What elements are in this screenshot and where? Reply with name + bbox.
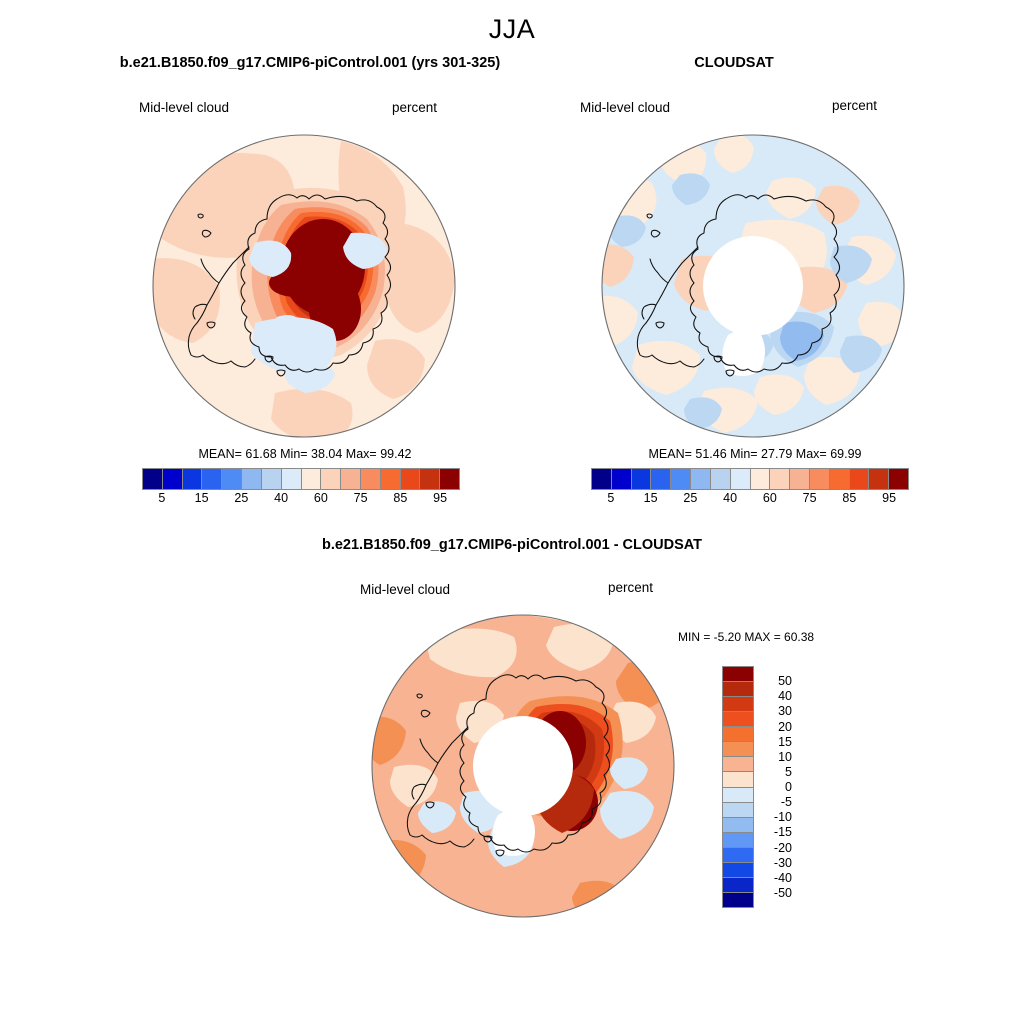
difference-polar-data-gap — [473, 716, 573, 816]
colorbar-segment — [592, 469, 612, 489]
colorbar-segment — [420, 469, 440, 489]
colorbar-segment — [262, 469, 282, 489]
colorbar-segment — [850, 469, 870, 489]
colorbar-tick-label: 15 — [762, 735, 792, 749]
stats-model: MEAN= 61.68 Min= 38.04 Max= 99.42 — [140, 447, 470, 461]
colorbar-segment — [723, 742, 753, 757]
units-label-difference: percent — [608, 580, 653, 595]
colorbar-tick-label: 25 — [234, 491, 248, 505]
colorbar-segment — [632, 469, 652, 489]
colorbar-segment — [723, 848, 753, 863]
colorbar-tick-label: 75 — [803, 491, 817, 505]
colorbar-segment — [723, 757, 753, 772]
colorbar-segment — [671, 469, 691, 489]
colorbar-segment — [869, 469, 889, 489]
colorbar-tick-label: 40 — [762, 689, 792, 703]
polar-map-obs-svg — [594, 127, 912, 445]
colorbar-obs-strip[interactable] — [591, 468, 909, 490]
colorbar-obs[interactable]: 515254060758595 — [591, 468, 909, 508]
season-title: JJA — [0, 14, 1024, 45]
field-label-model: Mid-level cloud — [139, 100, 229, 115]
colorbar-tick-label: -50 — [762, 886, 792, 900]
colorbar-difference[interactable]: 50403020151050-5-10-15-20-30-40-50 — [722, 666, 802, 908]
colorbar-segment — [723, 878, 753, 893]
colorbar-tick-label: -40 — [762, 871, 792, 885]
panel-title-difference: b.e21.B1850.f09_g17.CMIP6-piControl.001 … — [0, 537, 1024, 553]
colorbar-segment — [440, 469, 459, 489]
polar-map-difference-svg — [364, 607, 682, 925]
colorbar-segment — [612, 469, 632, 489]
colorbar-segment — [723, 803, 753, 818]
colorbar-segment — [321, 469, 341, 489]
colorbar-segment — [361, 469, 381, 489]
field-label-obs: Mid-level cloud — [580, 100, 670, 115]
colorbar-tick-label: 15 — [644, 491, 658, 505]
colorbar-tick-label: 0 — [762, 780, 792, 794]
colorbar-tick-label: -5 — [762, 795, 792, 809]
colorbar-model-strip[interactable] — [142, 468, 460, 490]
colorbar-segment — [381, 469, 401, 489]
colorbar-tick-label: 5 — [762, 765, 792, 779]
colorbar-model-ticks: 515254060758595 — [142, 490, 460, 508]
colorbar-tick-label: 15 — [195, 491, 209, 505]
colorbar-tick-label: 40 — [274, 491, 288, 505]
colorbar-segment — [723, 833, 753, 848]
colorbar-tick-label: 25 — [683, 491, 697, 505]
polar-map-model — [145, 127, 463, 445]
colorbar-segment — [691, 469, 711, 489]
colorbar-tick-label: 75 — [354, 491, 368, 505]
colorbar-tick-label: 5 — [607, 491, 614, 505]
colorbar-segment — [810, 469, 830, 489]
colorbar-tick-label: 85 — [393, 491, 407, 505]
colorbar-segment — [770, 469, 790, 489]
stats-obs: MEAN= 51.46 Min= 27.79 Max= 69.99 — [590, 447, 920, 461]
colorbar-tick-label: 40 — [723, 491, 737, 505]
colorbar-segment — [651, 469, 671, 489]
colorbar-segment — [723, 727, 753, 742]
polar-map-obs — [594, 127, 912, 445]
colorbar-segment — [202, 469, 222, 489]
model-filled-contours — [145, 127, 463, 445]
field-label-difference: Mid-level cloud — [360, 582, 450, 597]
colorbar-tick-label: 60 — [763, 491, 777, 505]
panel-title-obs: CLOUDSAT — [444, 55, 1024, 71]
colorbar-tick-label: 5 — [158, 491, 165, 505]
obs-filled-contours — [594, 127, 912, 445]
units-label-obs: percent — [832, 98, 877, 113]
difference-filled-contours — [364, 607, 682, 925]
colorbar-tick-label: 60 — [314, 491, 328, 505]
colorbar-obs-ticks: 515254060758595 — [591, 490, 909, 508]
colorbar-segment — [723, 712, 753, 727]
colorbar-segment — [282, 469, 302, 489]
colorbar-tick-label: 85 — [842, 491, 856, 505]
colorbar-segment — [723, 772, 753, 787]
colorbar-tick-label: -20 — [762, 841, 792, 855]
polar-map-model-svg — [145, 127, 463, 445]
colorbar-tick-label: 20 — [762, 720, 792, 734]
colorbar-segment — [711, 469, 731, 489]
colorbar-difference-labels: 50403020151050-5-10-15-20-30-40-50 — [762, 666, 802, 908]
colorbar-segment — [751, 469, 771, 489]
colorbar-segment — [302, 469, 322, 489]
colorbar-segment — [723, 697, 753, 712]
colorbar-segment — [723, 818, 753, 833]
colorbar-tick-label: -30 — [762, 856, 792, 870]
colorbar-segment — [723, 788, 753, 803]
colorbar-tick-label: 30 — [762, 704, 792, 718]
colorbar-segment — [143, 469, 163, 489]
colorbar-segment — [723, 893, 753, 907]
colorbar-segment — [401, 469, 421, 489]
colorbar-segment — [341, 469, 361, 489]
colorbar-segment — [723, 682, 753, 697]
colorbar-segment — [723, 667, 753, 682]
colorbar-tick-label: -10 — [762, 810, 792, 824]
colorbar-tick-label: 10 — [762, 750, 792, 764]
colorbar-model[interactable]: 515254060758595 — [142, 468, 460, 508]
colorbar-segment — [183, 469, 203, 489]
colorbar-segment — [723, 863, 753, 878]
colorbar-tick-label: 95 — [882, 491, 896, 505]
colorbar-tick-label: 95 — [433, 491, 447, 505]
minmax-difference: MIN = -5.20 MAX = 60.38 — [678, 630, 814, 644]
colorbar-segment — [830, 469, 850, 489]
colorbar-segment — [222, 469, 242, 489]
colorbar-difference-strip[interactable] — [722, 666, 754, 908]
colorbar-segment — [242, 469, 262, 489]
colorbar-segment — [163, 469, 183, 489]
colorbar-segment — [790, 469, 810, 489]
colorbar-tick-label: -15 — [762, 825, 792, 839]
units-label-model: percent — [392, 100, 437, 115]
obs-polar-data-gap — [703, 236, 803, 336]
colorbar-segment — [731, 469, 751, 489]
colorbar-segment — [889, 469, 908, 489]
colorbar-tick-label: 50 — [762, 674, 792, 688]
polar-map-difference — [364, 607, 682, 925]
